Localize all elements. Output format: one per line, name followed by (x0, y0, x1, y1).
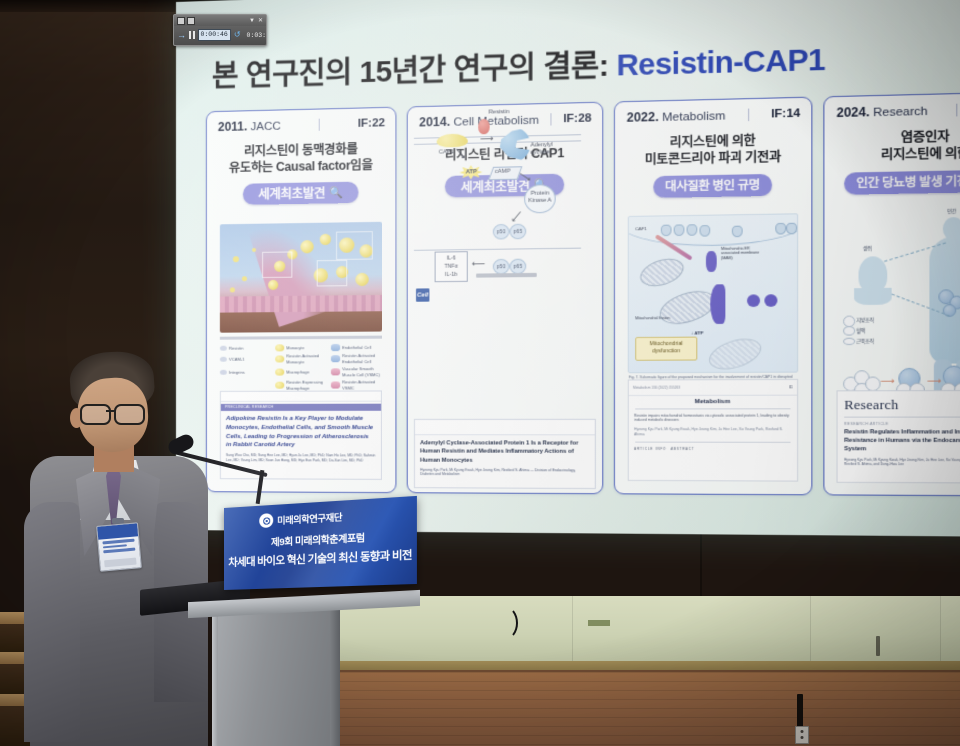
player-app-icon (177, 17, 185, 25)
card-header: 2024. Research IF:11 (824, 92, 960, 124)
pathway-label-adenylyl-cyclase: Adenylyl cyclase (530, 142, 562, 157)
card-highlight-pill: 세계최초발견 🔍 (243, 182, 358, 205)
eyeglasses-bridge (106, 410, 116, 412)
slide-title-accent: Resistin-CAP1 (616, 44, 825, 83)
figure-label-blood: 혈액 (856, 328, 865, 334)
podium-banner: 미래의학연구재단 제9회 미래의학춘계포럼 차세대 바이오 혁신 기술의 최신 … (224, 496, 417, 590)
research-card-2014-cell-metabolism[interactable]: 2014. Cell Metabolism IF:28 리지스틴 리셉터 CAP… (407, 102, 604, 495)
legend-label: Resistin Expressing Macrophage (286, 380, 328, 391)
research-card-2022-metabolism[interactable]: 2022. Metabolism IF:14 리지스틴에 의한 미토콘드리아 파… (614, 97, 812, 496)
slide-title: 본 연구진의 15년간 연구의 결론: Resistin-CAP1 (212, 35, 825, 95)
presenter (22, 352, 212, 746)
figure-label-atp: ATP (694, 330, 703, 335)
card-description-line2: 유도하는 Causal factor임을 (213, 157, 389, 177)
card-header-divider (319, 119, 320, 131)
card-pill-label: 세계최초발견 (258, 184, 325, 203)
research-card-row: 2011. JACC IF:22 리지스틴이 동맥경화를 유도하는 Causal… (206, 91, 960, 496)
card-header-divider (748, 109, 749, 122)
card-year: 2024. (837, 105, 870, 120)
magnifier-icon: 🔍 (329, 186, 343, 199)
card-figure: Resistin Monocyte Endothelial Cell VCAM-… (214, 216, 388, 484)
paper-thumbnail: Research ▢AAAS RESEARCH ARTICLE Resistin… (837, 390, 960, 484)
atherosclerosis-illustration (220, 222, 382, 333)
legend-label: Integrins (229, 369, 245, 375)
paper-thumbnail: Adenylyl Cyclase-Associated Protein 1 Is… (414, 419, 596, 489)
paper-title: Adipokine Resistin Is a Key Player to Mo… (221, 411, 381, 451)
slide-title-separator: : (599, 50, 609, 83)
pathway-label-resistin: Resistin (489, 109, 510, 116)
figure-label-adipose: 지방조직 (856, 318, 874, 324)
card-figure: Resistin CAP1 Adenylyl cyclase ⟶ ATP ⟶ (408, 103, 602, 494)
card-pill-label: 대사질환 병인 규명 (665, 177, 760, 195)
paper-title: Adenylyl Cyclase-Associated Protein 1 Is… (415, 435, 595, 465)
legend-label: Endothelial Cell (342, 345, 371, 351)
card-impact-factor: IF:14 (771, 107, 800, 120)
minimize-icon[interactable]: ▼ (249, 18, 255, 24)
figure-legend: Resistin Monocyte Endothelial Cell VCAM-… (220, 344, 384, 391)
card-figure: CAP1 Mitochondria ER associated membrane… (622, 209, 803, 486)
legend-label: Resistin Activated VSMC (342, 379, 384, 390)
projection-screen: 본 연구진의 15년간 연구의 결론: Resistin-CAP1 2011. … (176, 0, 960, 537)
research-journal-logo: Research (838, 391, 899, 413)
cytokine-il1b: IL-1b (436, 271, 467, 280)
wall-marker (876, 636, 880, 656)
figure-label: Mitochondria ER associated membrane (MAM… (721, 246, 760, 261)
card-description: 염증인자 리지스틴에 의한 (831, 127, 960, 166)
card-header-divider (956, 104, 957, 117)
legend-label: Resistin Activated Endothelial Cell (342, 353, 384, 364)
paper-authors: Sung Woo Cho, MD; Sung Hee Lee, MD; Hyun… (221, 450, 381, 463)
cytokine-output-box: IL-6 TNFα IL-1b (435, 251, 468, 282)
stage-cable (492, 606, 518, 640)
card-header: 2022. Metabolism IF:14 (615, 98, 811, 130)
card-journal: Metabolism (662, 110, 725, 124)
card-journal: Research (873, 105, 928, 119)
pathway-label-pka: Protein Kinase A (527, 190, 552, 205)
eyeglasses-right-lens (114, 404, 145, 425)
research-card-2024-research[interactable]: 2024. Research IF:11 염증인자 리지스틴에 의한 인간 당뇨… (823, 91, 960, 496)
presentation-slide: 본 연구진의 15년간 연구의 결론: Resistin-CAP1 2011. … (176, 0, 960, 537)
card-journal-line: 2022. Metabolism (627, 108, 726, 125)
pathway-label-atp: ATP (466, 169, 477, 175)
card-year: 2022. (627, 110, 659, 125)
paper-title: Resistin impairs mitochondrial homeostas… (629, 409, 797, 424)
screenshot-root: 본 연구진의 15년간 연구의 결론: Resistin-CAP1 2011. … (0, 0, 960, 746)
stage-front-panel (340, 672, 960, 746)
stage-floor (340, 596, 960, 666)
paper-section-label: PRECLINICAL RESEARCH (221, 404, 381, 409)
card-journal: JACC (251, 121, 281, 134)
card-description-line2: 리지스틴에 의한 (831, 144, 960, 165)
cell-journal-logo: Cell (416, 288, 429, 301)
figure-label-muscle: 근육조직 (856, 339, 874, 345)
card-impact-factor: IF:22 (358, 117, 386, 130)
pathway-label-camp: cAMP (495, 169, 511, 175)
figure-label: Mitochondrial fission (635, 316, 670, 320)
card-highlight-pill: 인간 당뇨병 발생 기전 규명 (844, 170, 960, 195)
wall-outlet[interactable] (795, 726, 809, 744)
legend-label: Vascular Smooth Muscle Cell (VSMC) (342, 366, 384, 377)
presenter-left-arm (24, 502, 80, 742)
mitochondrial-dysfunction-callout: Mitochondrial dysfunction (635, 337, 697, 361)
podium-side-edge (330, 604, 340, 746)
card-journal-line: 2011. JACC (218, 119, 281, 135)
figure-label: CAP1 (635, 226, 647, 231)
speaker-name-badge (96, 522, 142, 571)
pause-icon[interactable] (189, 31, 195, 39)
legend-label: Macrophage (286, 369, 309, 375)
card-description: 리지스틴이 동맥경화를 유도하는 Causal factor임을 (213, 140, 389, 177)
close-icon[interactable]: ✕ (258, 18, 263, 24)
figure-label-mouse: 생쥐 (863, 246, 872, 252)
wall-trim-fixture (797, 694, 803, 728)
legend-label: Monocyte (286, 345, 304, 351)
card-year: 2011. (218, 119, 247, 134)
card-header: 2011. JACC IF:22 (207, 108, 396, 139)
nfkb-subunit-p50: p50 (493, 224, 510, 240)
paper-thumbnail: Metabolism 134 (2022) 155263 E Metabolis… (628, 379, 798, 482)
player-controls: → 0:00:46 ↺ 0:03:10 (174, 26, 266, 44)
nfkb-subunit-p65: p65 (510, 259, 527, 275)
slide-title-korean: 본 연구진의 15년간 연구의 결론 (212, 50, 599, 93)
mitochondrial-dysfunction-illustration: CAP1 Mitochondria ER associated membrane… (628, 213, 798, 373)
total-time: 0:03:10 (247, 32, 267, 39)
legend-label: Resistin (229, 345, 244, 351)
video-player-overlay[interactable]: ▼ ✕ → 0:00:46 ↺ 0:03:10 (173, 14, 267, 46)
journal-name: Metabolism (629, 396, 797, 406)
pathway-label-cap1: CAP1 (439, 149, 454, 155)
podium-column (212, 608, 338, 746)
card-journal-line: 2024. Research (837, 103, 928, 120)
step-forward-icon[interactable]: → (177, 31, 186, 40)
player-titlebar[interactable]: ▼ ✕ (174, 15, 266, 26)
card-pill-label: 인간 당뇨병 발생 기전 규명 (856, 172, 960, 191)
legend-label: VCAM-1 (229, 356, 245, 362)
legend-label: Resistin Activated Monocyte (286, 353, 328, 364)
research-card-2011-jacc[interactable]: 2011. JACC IF:22 리지스틴이 동맥경화를 유도하는 Causal… (206, 107, 397, 493)
player-doc-icon (187, 17, 195, 25)
paper-title: Resistin Regulates Inflammation and Insu… (838, 426, 960, 455)
card-highlight-pill: 대사질환 병인 규명 (653, 174, 771, 198)
eyeglasses-left-lens (80, 404, 111, 425)
figure-label-human: 인간 (947, 209, 956, 216)
nfkb-subunit-p65: p65 (510, 224, 527, 240)
current-time[interactable]: 0:00:46 (198, 29, 231, 41)
card-figure: 인간 엔도카나비노이드 리지스틴 인간의 경우 생쥐 (832, 206, 960, 487)
nfkb-subunit-p50: p50 (493, 259, 510, 275)
card-description-line2: 미토콘드리아 파괴 기전과 (621, 149, 804, 170)
loop-icon[interactable]: ↺ (234, 31, 241, 39)
card-description: 리지스틴에 의한 미토콘드리아 파괴 기전과 (621, 131, 804, 169)
